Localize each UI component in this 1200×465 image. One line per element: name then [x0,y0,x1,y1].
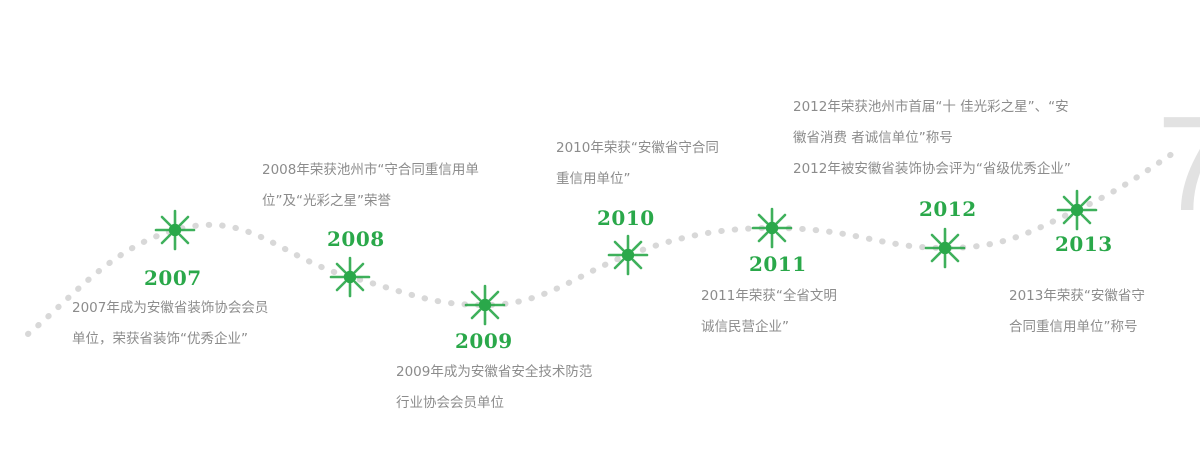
year-label-2010: 2010 [597,206,655,230]
milestone-2010-line-2: 重信用单位” [556,164,719,195]
milestone-2011-line-1: 2011年荣获“全省文明 [701,281,837,312]
milestone-2012-line-2: 徽省消费 者诚信单位”称号 [793,123,1071,154]
star-burst-icon [750,206,794,250]
milestone-description-2013: 2013年荣获“安徽省守 合同重信用单位”称号 [1009,281,1145,343]
year-label-2012: 2012 [919,197,977,221]
star-burst-icon [463,283,507,327]
milestone-2012-line-3: 2012年被安徽省装饰协会评为“省级优秀企业” [793,154,1071,185]
milestone-description-2010: 2010年荣获“安徽省守合同 重信用单位” [556,133,719,195]
milestone-description-2012: 2012年荣获池州市首届“十 佳光彩之星”、“安 徽省消费 者诚信单位”称号 2… [793,92,1071,185]
year-label-2013: 2013 [1055,232,1113,256]
year-label-2011: 2011 [749,252,807,276]
background-numeral-seven: 7 [1157,96,1200,231]
year-label-2008: 2008 [327,227,385,251]
milestone-2008-line-2: 位”及“光彩之星”荣誉 [262,186,479,217]
year-label-2007: 2007 [144,266,202,290]
year-label-2009: 2009 [455,329,513,353]
milestone-2008-line-1: 2008年荣获池州市“守合同重信用单 [262,155,479,186]
star-burst-icon [328,255,372,299]
milestone-2010-line-1: 2010年荣获“安徽省守合同 [556,133,719,164]
star-burst-icon [153,208,197,252]
star-burst-icon [606,233,650,277]
milestone-description-2009: 2009年成为安徽省安全技术防范 行业协会会员单位 [396,357,592,419]
milestone-description-2007: 2007年成为安徽省装饰协会会员 单位，荣获省装饰“优秀企业” [72,293,268,355]
milestone-description-2011: 2011年荣获“全省文明 诚信民营企业” [701,281,837,343]
milestone-2013-line-1: 2013年荣获“安徽省守 [1009,281,1145,312]
milestone-2013-line-2: 合同重信用单位”称号 [1009,312,1145,343]
milestone-2009-line-2: 行业协会会员单位 [396,388,592,419]
milestone-2011-line-2: 诚信民营企业” [701,312,837,343]
milestone-2009-line-1: 2009年成为安徽省安全技术防范 [396,357,592,388]
star-burst-icon [1055,188,1099,232]
star-burst-icon [923,226,967,270]
milestone-2007-line-1: 2007年成为安徽省装饰协会会员 [72,293,268,324]
timeline-infographic: 7 2007 2007年成为安徽省装饰协会会员 单位，荣获省装饰“优秀企业” [0,0,1200,465]
milestone-2012-line-1: 2012年荣获池州市首届“十 佳光彩之星”、“安 [793,92,1071,123]
milestone-description-2008: 2008年荣获池州市“守合同重信用单 位”及“光彩之星”荣誉 [262,155,479,217]
milestone-2007-line-2: 单位，荣获省装饰“优秀企业” [72,324,268,355]
